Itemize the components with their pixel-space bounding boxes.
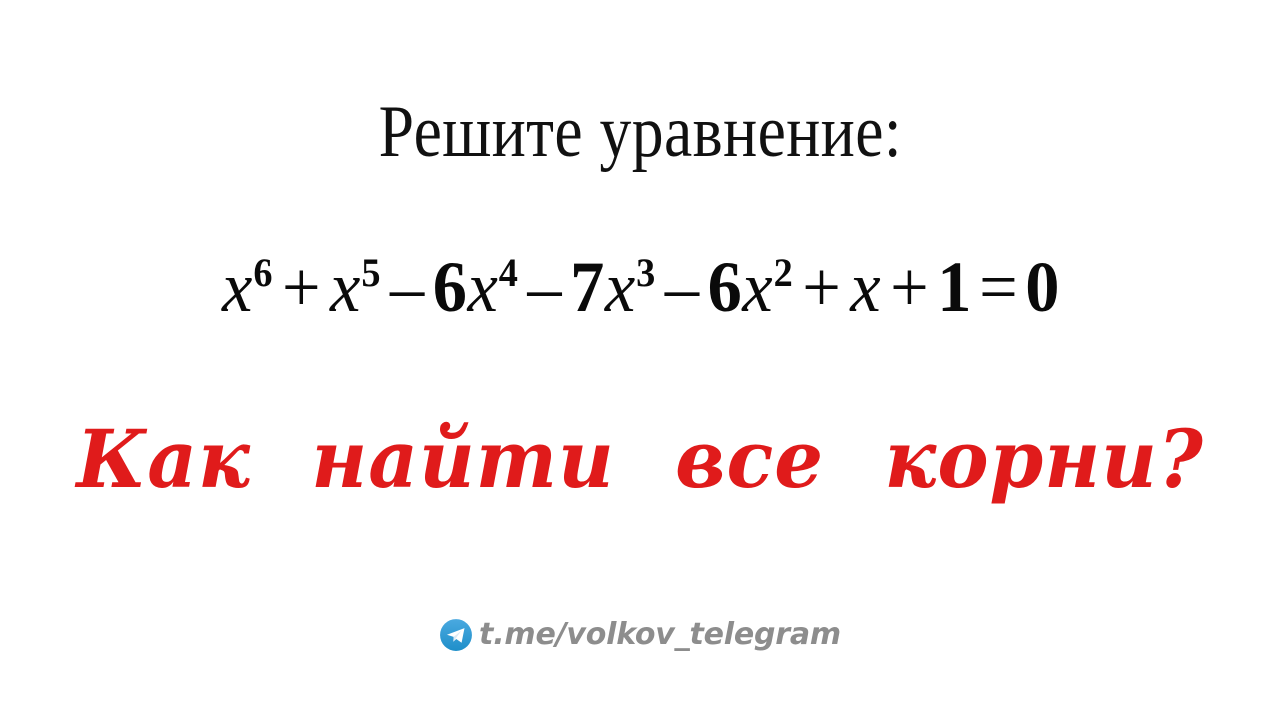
constant-term-1: 1 — [937, 247, 971, 327]
equation-term-x2: x2 — [741, 247, 793, 327]
equals-sign: = — [971, 247, 1025, 327]
watermark-label[interactable]: t.me/volkov_telegram — [479, 620, 841, 650]
exponent-3: 3 — [636, 250, 655, 295]
exponent-2: 2 — [773, 250, 792, 295]
page-title: Решите уравнение: — [378, 95, 901, 169]
telegram-icon[interactable] — [439, 618, 473, 652]
coefficient-6b: 6 — [707, 247, 741, 327]
equation-term-x5: x5 — [329, 247, 381, 327]
exponent-5: 5 — [361, 250, 380, 295]
operator-minus-2: – — [519, 247, 570, 327]
equation-term-x3: x3 — [604, 247, 656, 327]
operator-minus-3: – — [656, 247, 707, 327]
slide-canvas: Решите уравнение: x6+x5–6x4–7x3–6x2+x+1=… — [0, 0, 1280, 720]
question-prompt: Как найти все корни? — [76, 415, 1203, 503]
coefficient-7: 7 — [570, 247, 604, 327]
equation-term-x6: x6 — [221, 247, 273, 327]
operator-plus-2: + — [793, 247, 849, 327]
operator-plus-3: + — [881, 247, 937, 327]
equation-term-x4: x4 — [466, 247, 518, 327]
coefficient-6a: 6 — [433, 247, 467, 327]
question-row: Как найти все корни? — [0, 415, 1280, 503]
watermark: t.me/volkov_telegram — [0, 618, 1280, 652]
operator-minus-1: – — [381, 247, 432, 327]
exponent-4: 4 — [499, 250, 518, 295]
equation-term-x: x — [849, 247, 881, 327]
right-hand-side-0: 0 — [1025, 247, 1059, 327]
operator-plus-1: + — [273, 247, 329, 327]
exponent-6: 6 — [253, 250, 272, 295]
equation-expression: x6+x5–6x4–7x3–6x2+x+1=0 — [221, 247, 1059, 328]
equation-row: x6+x5–6x4–7x3–6x2+x+1=0 — [0, 247, 1280, 328]
title-row: Решите уравнение: — [0, 95, 1280, 169]
